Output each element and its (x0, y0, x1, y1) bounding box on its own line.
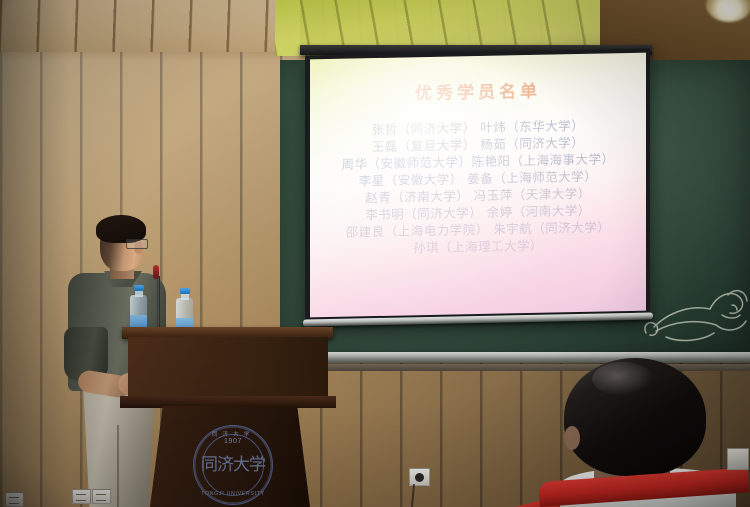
socket-slot (76, 494, 86, 501)
emblem-glyph: 同济大学 (194, 450, 272, 475)
presentation-slide: 优秀学员名单 张哲（同济大学） 叶炜（东华大学） 王磊（复旦大学） 杨茹（同济大… (310, 53, 646, 318)
bottle-cap (134, 285, 144, 291)
slide-title: 优秀学员名单 (324, 75, 632, 106)
ceiling-left-panels (0, 0, 300, 52)
wall-socket[interactable] (72, 489, 91, 504)
lecture-hall-scene: 优秀学员名单 张哲（同济大学） 叶炜（东华大学） 王磊（复旦大学） 杨茹（同济大… (0, 0, 750, 507)
microphone-icon (153, 265, 159, 279)
glasses-icon (126, 239, 148, 249)
socket-slot (9, 497, 19, 504)
wall-socket[interactable] (727, 448, 749, 470)
audience-ear (564, 426, 580, 450)
slide-body: 张哲（同济大学） 叶炜（东华大学） 王磊（复旦大学） 杨茹（同济大学） 周华（安… (324, 116, 632, 258)
socket-slot (96, 494, 106, 501)
wall-socket[interactable] (92, 489, 111, 504)
university-emblem: 同济大学 1907 同济大学 TONGJI UNIVERSITY (193, 425, 273, 505)
audience-member (540, 358, 750, 507)
water-bottle (130, 285, 147, 333)
wall-socket[interactable] (5, 492, 24, 507)
presenter-trouser-seam (117, 425, 119, 507)
podium-body (128, 337, 328, 400)
emblem-chinese-name: 同济大学 (194, 430, 272, 438)
jack-knob-icon (415, 473, 424, 482)
bottle-neck (181, 293, 189, 300)
emblem-english-name: TONGJI UNIVERSITY (194, 491, 272, 497)
emblem-year: 1907 (194, 438, 272, 445)
audience-hair-highlight (592, 362, 654, 396)
projection-screen: 优秀学员名单 张哲（同济大学） 叶炜（东华大学） 王磊（复旦大学） 杨茹（同济大… (310, 53, 646, 318)
bottle-cap (180, 288, 190, 294)
microphone-stand (157, 276, 160, 332)
bottle-neck (135, 290, 143, 297)
